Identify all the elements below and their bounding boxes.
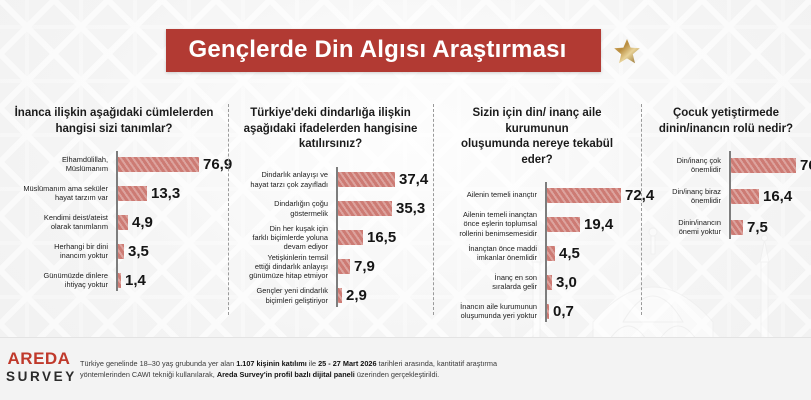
bar-chart-4: Din/inanç çok önemlidir 76,1 Din/inanç b… xyxy=(649,151,803,241)
bar-label: Ailenin temeli inançtır xyxy=(441,190,542,199)
bar-track: 3,0 xyxy=(542,275,633,290)
bar-fill xyxy=(546,217,580,232)
page-title: Gençlerde Din Algısı Araştırması xyxy=(166,29,600,72)
bar-label: İnancın aile kurumunun oluşumunda yeri y… xyxy=(441,302,542,321)
section-divider xyxy=(228,104,229,315)
chart-section-dindarlik-ifade: Türkiye'deki dindarlığa ilişkin aşağıdak… xyxy=(228,96,433,321)
bar-value: 76,1 xyxy=(800,158,811,173)
bar-track: 3,5 xyxy=(113,244,220,259)
note-part: tarihleri arasında, kantitatif xyxy=(377,359,465,368)
bar-value: 19,4 xyxy=(584,217,613,232)
bar-track: 0,7 xyxy=(542,304,633,319)
logo-survey-text: SURVEY xyxy=(6,367,72,387)
bar-row: Ailenin temeli inançtır 72,4 xyxy=(441,182,633,208)
bar-value: 3,0 xyxy=(556,275,577,290)
footer: AREDA SURVEY Türkiye genelinde 18–30 yaş… xyxy=(0,337,811,400)
chart-axis xyxy=(545,182,547,322)
bar-label: Din her kuşak için farklı biçimlerde yol… xyxy=(236,224,333,252)
bar-fill xyxy=(117,157,199,172)
bar-track: 16,4 xyxy=(726,189,803,204)
bar-label: Din/inanç çok önemlidir xyxy=(649,156,726,175)
bar-track: 1,4 xyxy=(113,273,220,288)
bar-fill xyxy=(546,246,555,261)
bar-label: Dinin/inancın önemi yoktur xyxy=(649,218,726,237)
bar-row: Ailenin temeli inançtan önce eşlerin top… xyxy=(441,211,633,237)
bar-value: 16,5 xyxy=(367,230,396,245)
bar-value: 3,5 xyxy=(128,244,149,259)
bar-label: Kendimi deist/ateist olarak tanımlarım xyxy=(8,213,113,232)
chart-section-aile-kurumu: Sizin için din/ inanç aile kurumunun olu… xyxy=(433,96,641,321)
bar-fill xyxy=(337,259,350,274)
bar-label: Elhamdülillah, Müslümanım xyxy=(8,155,113,174)
bar-track: 37,4 xyxy=(333,172,428,187)
note-part: ile xyxy=(307,359,318,368)
bar-value: 4,9 xyxy=(132,215,153,230)
chart-title-1: İnanca ilişkin aşağıdaki cümlelerden han… xyxy=(12,106,216,137)
note-date-range: 25 - 27 Mart 2026 xyxy=(318,359,376,368)
bar-value: 35,3 xyxy=(396,201,425,216)
note-part: üzerinden gerçekleştirildi. xyxy=(355,370,439,379)
bar-row: Din/inanç çok önemlidir 76,1 xyxy=(649,151,803,179)
section-divider xyxy=(433,104,434,315)
note-part: Türkiye genelinde 18–30 yaş grubunda yer… xyxy=(80,359,236,368)
bar-chart-1: Elhamdülillah, Müslümanım 76,9 Müslümanı… xyxy=(8,151,220,293)
bar-chart-3: Ailenin temeli inançtır 72,4 Ailenin tem… xyxy=(441,182,633,324)
bar-value: 7,9 xyxy=(354,259,375,274)
bar-track: 35,3 xyxy=(333,201,425,216)
bar-row: Dindarlık anlayışı ve hayat tarzı çok za… xyxy=(236,167,425,193)
bar-row: İnancın aile kurumunun oluşumunda yeri y… xyxy=(441,298,633,324)
bar-row: Gençler yeni dindarlık biçimleri gelişti… xyxy=(236,283,425,309)
bar-chart-2: Dindarlık anlayışı ve hayat tarzı çok za… xyxy=(236,167,425,309)
bar-fill xyxy=(546,188,621,203)
bar-row: Müslümanım ama seküler hayat tarzım var … xyxy=(8,180,220,206)
bar-track: 13,3 xyxy=(113,186,220,201)
chart-axis xyxy=(729,151,731,239)
bar-row: Din/inanç biraz önemlidir 16,4 xyxy=(649,182,803,210)
chart-axis xyxy=(336,167,338,307)
bar-fill xyxy=(117,186,147,201)
bar-fill xyxy=(730,189,759,204)
methodology-note: Türkiye genelinde 18–30 yaş grubunda yer… xyxy=(72,358,514,381)
section-divider xyxy=(641,104,642,315)
bar-label: İnanç en son sıralarda gelir xyxy=(441,273,542,292)
bar-row: Dinin/inancın önemi yoktur 7,5 xyxy=(649,213,803,241)
areda-survey-logo: AREDA SURVEY xyxy=(0,350,72,387)
bar-row: İnançtan önce maddi imkanlar önemlidir 4… xyxy=(441,240,633,266)
bar-value: 7,5 xyxy=(747,220,768,235)
bar-label: Ailenin temeli inançtan önce eşlerin top… xyxy=(441,210,542,238)
bar-track: 2,9 xyxy=(333,288,425,303)
chart-section-inanc-tanim: İnanca ilişkin aşağıdaki cümlelerden han… xyxy=(0,96,228,321)
bar-track: 16,5 xyxy=(333,230,425,245)
bar-fill xyxy=(730,158,796,173)
bar-row: Elhamdülillah, Müslümanım 76,9 xyxy=(8,151,220,177)
bar-track: 4,9 xyxy=(113,215,220,230)
bar-row: Günümüzde dinlere ihtiyaç yoktur 1,4 xyxy=(8,267,220,293)
bar-fill xyxy=(117,244,124,259)
chart-title-3: Sizin için din/ inanç aile kurumunun olu… xyxy=(445,106,629,168)
bar-label: Gençler yeni dindarlık biçimleri gelişti… xyxy=(236,286,333,305)
bar-fill xyxy=(337,172,395,187)
chart-section-cocuk-yetistirme: Çocuk yetiştirmede dinin/inancın rolü ne… xyxy=(641,96,811,321)
bar-value: 2,9 xyxy=(346,288,367,303)
bar-value: 0,7 xyxy=(553,304,574,319)
bar-value: 13,3 xyxy=(151,186,180,201)
crescent-star-icon xyxy=(579,19,645,81)
chart-axis xyxy=(116,151,118,291)
bar-label: İnançtan önce maddi imkanlar önemlidir xyxy=(441,244,542,263)
bar-label: Dindarlık anlayışı ve hayat tarzı çok za… xyxy=(236,170,333,189)
bar-track: 7,9 xyxy=(333,259,425,274)
charts-container: İnanca ilişkin aşağıdaki cümlelerden han… xyxy=(0,96,811,321)
bar-row: Yetişkinlerin temsil ettiği dindarlık an… xyxy=(236,254,425,280)
bar-fill xyxy=(337,201,392,216)
bar-value: 4,5 xyxy=(559,246,580,261)
bar-track: 76,1 xyxy=(726,158,811,173)
bar-label: Yetişkinlerin temsil ettiği dindarlık an… xyxy=(236,253,333,281)
bar-value: 16,4 xyxy=(763,189,792,204)
bar-track: 19,4 xyxy=(542,217,633,232)
bar-row: Kendimi deist/ateist olarak tanımlarım 4… xyxy=(8,209,220,235)
bar-label: Müslümanım ama seküler hayat tarzım var xyxy=(8,184,113,203)
chart-title-2: Türkiye'deki dindarlığa ilişkin aşağıdak… xyxy=(240,106,421,153)
bar-label: Dindarlığın çoğu göstermelik xyxy=(236,199,333,218)
header: Gençlerde Din Algısı Araştırması xyxy=(0,22,811,78)
note-panel: Areda Survey'in profil bazlı dijital pan… xyxy=(217,370,355,379)
bar-row: Din her kuşak için farklı biçimlerde yol… xyxy=(236,225,425,251)
bar-track: 7,5 xyxy=(726,220,803,235)
bar-track: 4,5 xyxy=(542,246,633,261)
bar-fill xyxy=(337,230,363,245)
bar-track: 76,9 xyxy=(113,157,232,172)
bar-row: Herhangi bir dini inancım yoktur 3,5 xyxy=(8,238,220,264)
bar-label: Din/inanç biraz önemlidir xyxy=(649,187,726,206)
bar-track: 72,4 xyxy=(542,188,654,203)
bar-fill xyxy=(117,215,128,230)
bar-label: Herhangi bir dini inancım yoktur xyxy=(8,242,113,261)
note-sample-size: 1.107 kişinin katılımı xyxy=(236,359,307,368)
bar-label: Günümüzde dinlere ihtiyaç yoktur xyxy=(8,271,113,290)
logo-areda-text: AREDA xyxy=(6,350,72,367)
bar-fill xyxy=(730,220,743,235)
bar-value: 37,4 xyxy=(399,172,428,187)
chart-title-4: Çocuk yetiştirmede dinin/inancın rolü ne… xyxy=(653,106,799,137)
bar-row: Dindarlığın çoğu göstermelik 35,3 xyxy=(236,196,425,222)
bar-value: 1,4 xyxy=(125,273,146,288)
bar-row: İnanç en son sıralarda gelir 3,0 xyxy=(441,269,633,295)
